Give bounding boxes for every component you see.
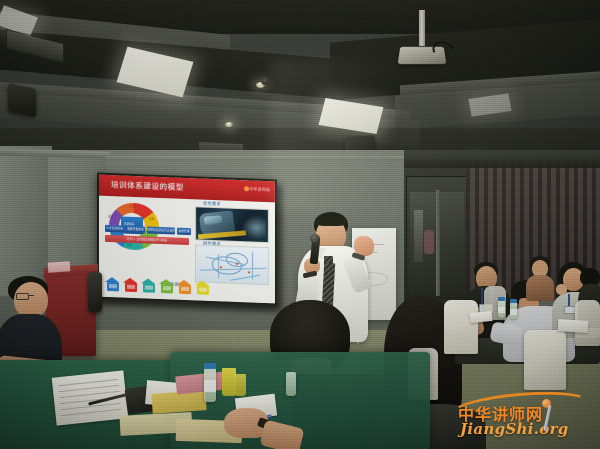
house-icon: [105, 277, 120, 292]
slide-house-icon-row: [105, 277, 210, 297]
house-icon: [195, 280, 210, 295]
house-icon: [123, 278, 138, 293]
door-reflection: [414, 210, 423, 262]
wheel-segment-label: 实施: [149, 217, 154, 221]
right-wall-upper: [404, 150, 600, 168]
eyeglasses: [16, 293, 29, 300]
slide-blue-bar: 人才培养体系: [105, 225, 124, 233]
slide-train-photo: [195, 206, 269, 243]
wheel-segment-label: 计划: [130, 204, 135, 208]
ceiling: [0, 0, 600, 170]
projector-mount-pole: [419, 10, 425, 46]
ceiling-speaker: [8, 83, 36, 117]
wheel-segment-label: 反馈: [127, 243, 132, 247]
water-bottle: [286, 372, 296, 396]
door-mullion: [436, 190, 440, 296]
chair-cover: [444, 300, 478, 354]
attendee-hand-writing: [196, 406, 292, 449]
presenter-hair-fringe: [315, 215, 347, 226]
slide-blue-bar-label: 运营管理: [177, 228, 191, 236]
loose-paper: [558, 319, 589, 333]
presentation-slide: 培训体系建设的模型 中华讲师网 培训体系 计划 实施 评估 反馈 分析 设计: [99, 175, 275, 304]
slide-blue-bar: 讲师队伍建设与认证体系: [147, 226, 175, 234]
house-icon: [141, 278, 156, 293]
slide-blue-bar: 课程开发体系: [126, 226, 145, 234]
door-glass-panel: [440, 192, 464, 294]
attendee-head: [14, 282, 48, 318]
chair-cover: [524, 330, 566, 390]
slide-route-map: [195, 244, 269, 285]
slide-blue-bar-label: 讲师队伍建设与认证体系: [147, 226, 175, 234]
slide-blue-bar-label: 人才培养体系: [105, 225, 124, 233]
projection-screen: 培训体系建设的模型 中华讲师网 培训体系 计划 实施 评估 反馈 分析 设计: [97, 173, 277, 306]
podium-paper: [48, 261, 71, 273]
bottle-cap: [510, 299, 517, 303]
door-reflection: [424, 230, 434, 254]
dome-camera: [261, 77, 269, 85]
yellow-cup: [234, 374, 246, 396]
water-bottle: [498, 300, 505, 318]
slide-blue-bar: 运营管理: [177, 228, 191, 236]
attendee-torso: [526, 275, 554, 301]
slide-blue-bar-label: 课程开发体系: [126, 226, 145, 234]
screen-surface: 培训体系建设的模型 中华讲师网 培训体系 计划 实施 评估 反馈 分析 设计: [99, 175, 275, 304]
attendee-rear-center: [524, 256, 558, 300]
slide-brand-logo: 中华讲师网: [249, 186, 270, 193]
seminar-photograph: 培训体系建设的模型 中华讲师网 培训体系 计划 实施 评估 反馈 分析 设计: [0, 0, 600, 449]
wheel-segment-label: 设计: [108, 214, 113, 218]
bottle-cap: [498, 297, 505, 301]
ceiling-downlight: [225, 122, 233, 127]
wall-rail: [105, 156, 405, 161]
house-icon: [177, 280, 192, 295]
microphone-head: [310, 234, 320, 243]
house-icon: [159, 279, 174, 294]
water-bottle: [204, 368, 216, 402]
water-bottle: [510, 302, 517, 319]
bottle-cap: [204, 363, 216, 369]
